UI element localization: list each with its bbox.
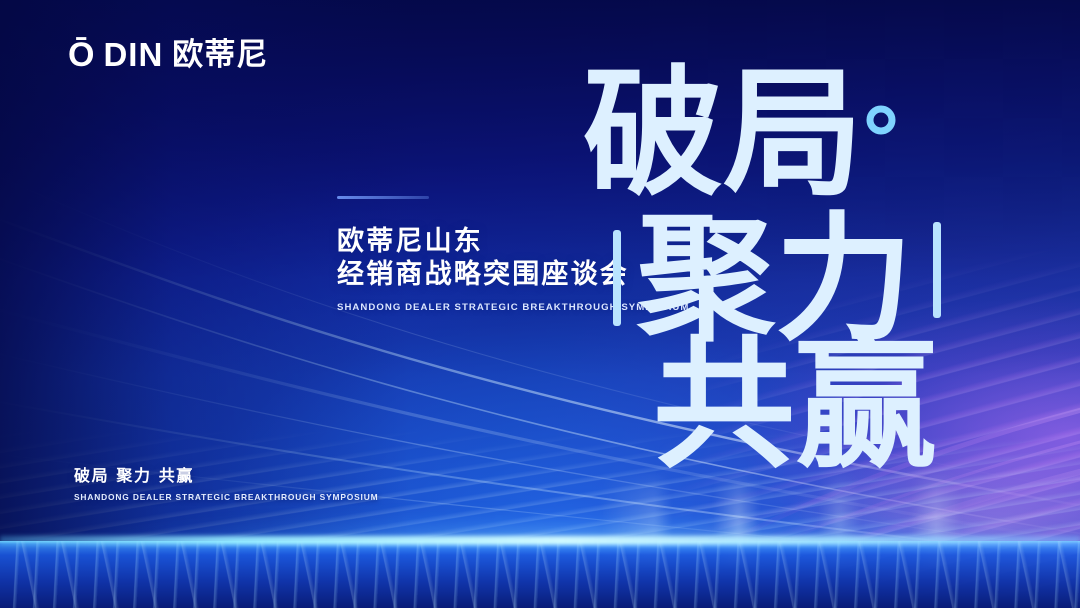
- headline-calligraphy: 破局 聚力 共赢: [575, 52, 990, 472]
- horizon-line: [0, 536, 1080, 545]
- ground-grid-lines-secondary: [0, 541, 1080, 608]
- circle-accent-icon: [870, 109, 892, 131]
- footer-slogan-en: SHANDONG DEALER STRATEGIC BREAKTHROUGH S…: [74, 492, 378, 502]
- vertical-bar-left-icon: [613, 230, 621, 326]
- brand-logo: Ō DIN 欧蒂尼: [68, 38, 268, 72]
- vertical-bar-right-icon: [933, 222, 941, 318]
- divider-rule: [337, 196, 429, 199]
- footer-slogan-block: 破局 聚力 共赢 SHANDONG DEALER STRATEGIC BREAK…: [74, 466, 378, 502]
- logo-latin-text: DIN: [103, 38, 163, 72]
- headline-row-3: 共赢: [653, 323, 937, 488]
- logo-o-circumflex: Ō: [68, 38, 94, 72]
- footer-slogan-cn: 破局 聚力 共赢: [74, 466, 378, 486]
- headline-row-1: 破局: [583, 53, 863, 216]
- poster-canvas: Ō DIN 欧蒂尼 欧蒂尼山东 经销商战略突围座谈会 SHANDONG DEAL…: [0, 0, 1080, 608]
- logo-chinese-text: 欧蒂尼: [172, 38, 268, 72]
